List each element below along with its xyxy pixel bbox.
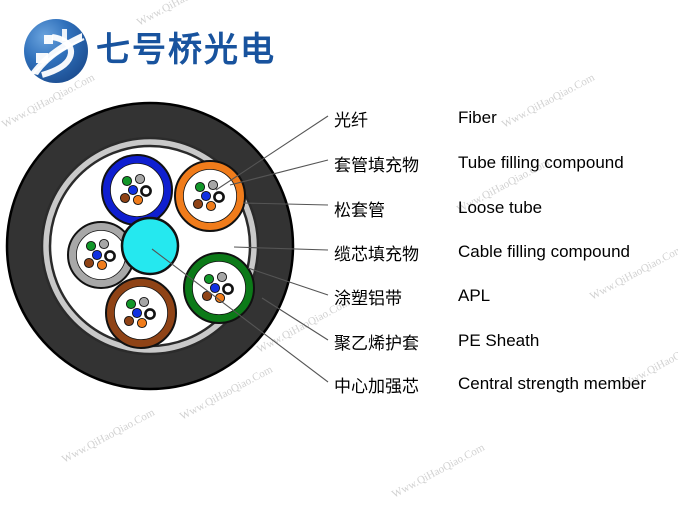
legend-label-cn: 光纤 — [334, 106, 458, 131]
legend-label-en: PE Sheath — [458, 331, 539, 351]
loose-tube-green — [184, 253, 254, 323]
fiber-green — [204, 274, 213, 283]
fiber-grey — [135, 174, 144, 183]
fiber-white — [105, 251, 114, 260]
legend-label-en: Central strength member — [458, 374, 646, 394]
legend-label-en: Fiber — [458, 108, 497, 128]
bridge-circle-logo-icon — [22, 17, 90, 85]
loose-tube-orange — [175, 161, 245, 231]
fiber-orange — [133, 195, 142, 204]
fiber-brown — [120, 193, 129, 202]
legend-row-pe-sheath: 聚乙烯护套PE Sheath — [334, 330, 539, 352]
fiber-grey — [139, 297, 148, 306]
legend-row-fiber: 光纤Fiber — [334, 107, 497, 129]
legend-label-cn: 松套管 — [334, 196, 458, 221]
fiber-blue — [210, 283, 219, 292]
fiber-white — [223, 284, 232, 293]
fiber-brown — [84, 258, 93, 267]
loose-tube-blue — [102, 155, 172, 225]
loose-tube-brown — [106, 278, 176, 348]
fiber-orange — [206, 201, 215, 210]
fiber-green — [86, 241, 95, 250]
fiber-blue — [128, 185, 137, 194]
fiber-grey — [99, 239, 108, 248]
legend-label-cn: 中心加强芯 — [334, 372, 458, 397]
legend-label-en: Cable filling compound — [458, 242, 630, 262]
fiber-grey — [208, 180, 217, 189]
fiber-white — [214, 192, 223, 201]
fiber-green — [195, 182, 204, 191]
fiber-green — [122, 176, 131, 185]
fiber-orange — [137, 318, 146, 327]
legend-label-en: APL — [458, 286, 490, 306]
fiber-blue — [92, 250, 101, 259]
central-strength-member — [122, 218, 178, 274]
legend-label-cn: 聚乙烯护套 — [334, 329, 458, 354]
legend-label-en: Loose tube — [458, 198, 542, 218]
legend-row-loose-tube: 松套管Loose tube — [334, 197, 542, 219]
fiber-blue — [201, 191, 210, 200]
page-header: 七号桥光电 — [0, 0, 678, 92]
legend-row-tube-filling-compound: 套管填充物Tube filling compound — [334, 152, 624, 174]
legend-label-cn: 套管填充物 — [334, 151, 458, 176]
legend-row-cable-filling-compound: 缆芯填充物Cable filling compound — [334, 241, 630, 263]
fiber-orange — [97, 260, 106, 269]
fiber-grey — [217, 272, 226, 281]
legend-row-central-strength-member: 中心加强芯Central strength member — [334, 373, 646, 395]
fiber-white — [141, 186, 150, 195]
fiber-blue — [132, 308, 141, 317]
fiber-white — [145, 309, 154, 318]
fiber-brown — [193, 199, 202, 208]
legend-label-cn: 缆芯填充物 — [334, 240, 458, 265]
brand-name: 七号桥光电 — [96, 29, 276, 71]
legend-label-cn: 涂塑铝带 — [334, 284, 458, 309]
legend-row-apl: 涂塑铝带APL — [334, 285, 490, 307]
fiber-brown — [124, 316, 133, 325]
fiber-green — [126, 299, 135, 308]
legend-label-en: Tube filling compound — [458, 153, 624, 173]
